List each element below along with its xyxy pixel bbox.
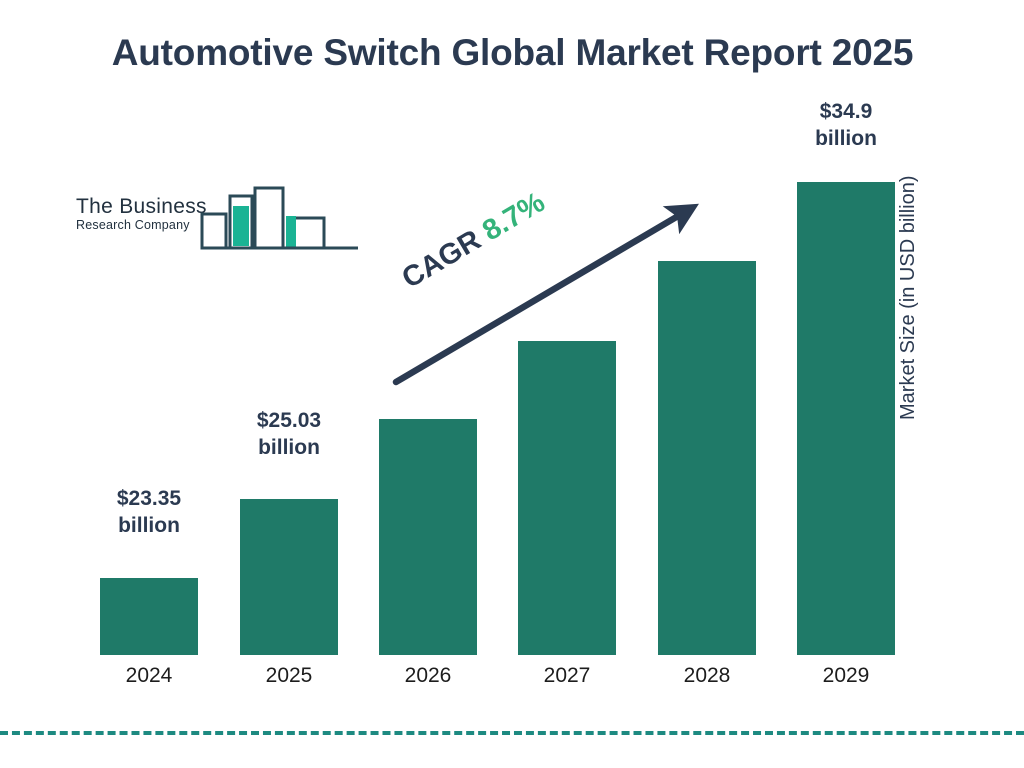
bar-value-label-2029-line1: $34.9 xyxy=(776,99,916,126)
x-axis-tick-2027: 2027 xyxy=(517,664,617,688)
bar-chart-plot: $23.35 billion $25.03 billion $34.9 bill… xyxy=(0,0,1024,768)
bar-value-label-2025-line2: billion xyxy=(219,435,359,462)
bar-2026 xyxy=(379,419,477,655)
bar-value-label-2024-line2: billion xyxy=(79,513,219,540)
bar-value-label-2025: $25.03 billion xyxy=(219,408,359,462)
bar-value-label-2029: $34.9 billion xyxy=(776,99,916,153)
bar-value-label-2024: $23.35 billion xyxy=(79,486,219,540)
bar-value-label-2024-line1: $23.35 xyxy=(79,486,219,513)
chart-page: Automotive Switch Global Market Report 2… xyxy=(0,0,1024,768)
bar-2029 xyxy=(797,182,895,655)
cagr-value: 8.7% xyxy=(477,186,550,247)
bar-2028 xyxy=(658,261,756,655)
bar-value-label-2025-line1: $25.03 xyxy=(219,408,359,435)
bar-value-label-2029-line2: billion xyxy=(776,126,916,153)
x-axis-tick-2024: 2024 xyxy=(99,664,199,688)
cagr-label: CAGR 8.7% xyxy=(397,186,551,295)
x-axis-tick-2029: 2029 xyxy=(796,664,896,688)
bar-2025 xyxy=(240,499,338,655)
x-axis-tick-2026: 2026 xyxy=(378,664,478,688)
x-axis-tick-2025: 2025 xyxy=(239,664,339,688)
bar-2024 xyxy=(100,578,198,655)
cagr-word: CAGR xyxy=(397,224,487,295)
y-axis-title: Market Size (in USD billion) xyxy=(897,60,920,420)
footer-divider xyxy=(0,731,1024,735)
x-axis-tick-2028: 2028 xyxy=(657,664,757,688)
bar-2027 xyxy=(518,341,616,655)
